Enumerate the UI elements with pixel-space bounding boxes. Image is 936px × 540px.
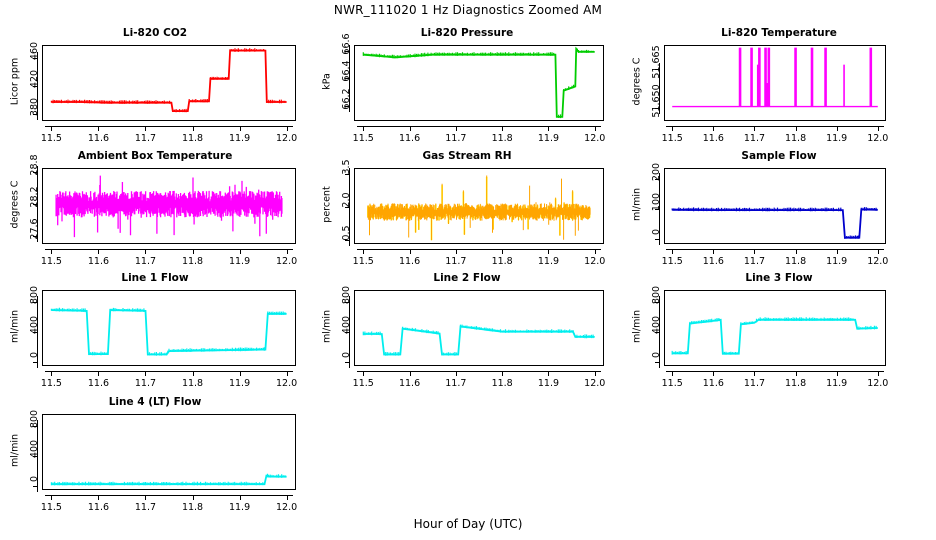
x-tick-label: 11.8 — [482, 256, 522, 267]
x-tick-label: 11.6 — [78, 133, 118, 144]
x-tick — [145, 249, 146, 254]
x-tick-label: 11.7 — [436, 133, 476, 144]
y-axis-label: degrees C — [632, 52, 643, 112]
y-axis-label: ml/min — [632, 297, 643, 357]
x-tick — [713, 249, 714, 254]
x-tick-label: 11.8 — [173, 502, 213, 513]
panel-title: Li-820 Temperature — [622, 27, 936, 39]
x-tick — [98, 249, 99, 254]
x-tick — [363, 126, 364, 131]
x-tick-label: 11.7 — [125, 502, 165, 513]
x-tick — [548, 371, 549, 376]
y-axis-label: ml/min — [10, 421, 21, 481]
panel-line-1-flow: Line 1 Flow0400800ml/min11.511.611.711.8… — [0, 272, 310, 400]
x-axis-line — [357, 371, 600, 372]
x-tick — [595, 249, 596, 254]
panel-title: Line 2 Flow — [312, 272, 622, 284]
x-tick — [363, 249, 364, 254]
x-tick — [878, 126, 879, 131]
x-tick-label: 12.0 — [858, 378, 898, 389]
x-tick-label: 12.0 — [267, 256, 307, 267]
x-tick-label: 11.8 — [173, 133, 213, 144]
x-tick-label: 12.0 — [267, 378, 307, 389]
x-tick — [672, 126, 673, 131]
x-tick — [796, 249, 797, 254]
x-tick-label: 11.6 — [693, 256, 733, 267]
x-tick — [410, 249, 411, 254]
panel-title: Line 3 Flow — [622, 272, 936, 284]
x-tick-label: 11.9 — [528, 256, 568, 267]
x-tick-label: 11.8 — [776, 378, 816, 389]
y-axis-label: ml/min — [632, 175, 643, 235]
x-tick — [878, 371, 879, 376]
x-tick — [595, 371, 596, 376]
x-tick — [287, 495, 288, 500]
data-trace — [42, 45, 296, 121]
data-trace — [664, 290, 886, 366]
x-tick-label: 11.7 — [436, 256, 476, 267]
data-trace — [354, 45, 604, 121]
panel-line-2-flow: Line 2 Flow0400800ml/min11.511.611.711.8… — [312, 272, 622, 400]
figure-canvas: NWR_111020 1 Hz Diagnostics Zoomed AM Li… — [0, 0, 936, 540]
x-tick-label: 11.9 — [817, 256, 857, 267]
x-tick — [193, 249, 194, 254]
x-tick-label: 11.6 — [390, 133, 430, 144]
data-trace — [354, 290, 604, 366]
panel-ambient-box-temperature: Ambient Box Temperature27.628.228.8degre… — [0, 150, 310, 278]
x-axis-line — [45, 249, 292, 250]
x-tick-label: 11.7 — [734, 378, 774, 389]
x-tick — [145, 495, 146, 500]
panel-title: Line 1 Flow — [0, 272, 310, 284]
x-tick — [240, 371, 241, 376]
x-tick-label: 11.5 — [343, 378, 383, 389]
x-tick — [363, 371, 364, 376]
x-tick-label: 11.9 — [817, 378, 857, 389]
panel-title: Sample Flow — [622, 150, 936, 162]
x-tick-label: 11.9 — [220, 256, 260, 267]
panel-li-820-co2: Li-820 CO2380420460Licor ppm11.511.611.7… — [0, 27, 310, 155]
x-tick-label: 12.0 — [575, 133, 615, 144]
data-trace — [42, 414, 296, 490]
x-tick-label: 12.0 — [267, 502, 307, 513]
x-tick — [287, 126, 288, 131]
x-tick — [287, 371, 288, 376]
panel-li-820-temperature: Li-820 Temperature51.65051.665degrees C1… — [622, 27, 936, 155]
panel-sample-flow: Sample Flow0100200ml/min11.511.611.711.8… — [622, 150, 936, 278]
figure-title: NWR_111020 1 Hz Diagnostics Zoomed AM — [0, 3, 936, 17]
x-tick — [193, 495, 194, 500]
x-tick-label: 11.8 — [173, 256, 213, 267]
x-tick — [672, 371, 673, 376]
y-axis-label: percent — [322, 175, 333, 235]
x-tick-label: 11.9 — [220, 133, 260, 144]
x-tick-label: 11.5 — [31, 378, 71, 389]
x-tick-label: 11.7 — [125, 378, 165, 389]
x-tick-label: 11.6 — [693, 133, 733, 144]
x-tick — [456, 371, 457, 376]
x-tick — [837, 371, 838, 376]
x-tick — [878, 249, 879, 254]
x-tick — [837, 126, 838, 131]
x-tick — [754, 249, 755, 254]
x-axis-line — [45, 126, 292, 127]
x-tick — [456, 249, 457, 254]
x-tick — [51, 495, 52, 500]
x-tick-label: 11.7 — [734, 133, 774, 144]
x-tick — [98, 371, 99, 376]
panel-title: Gas Stream RH — [312, 150, 622, 162]
x-axis-line — [45, 371, 292, 372]
x-tick — [456, 126, 457, 131]
panel-line-3-flow: Line 3 Flow0400800ml/min11.511.611.711.8… — [622, 272, 936, 400]
x-tick — [754, 371, 755, 376]
x-tick — [837, 249, 838, 254]
x-tick — [410, 126, 411, 131]
data-trace — [354, 168, 604, 244]
x-tick — [754, 126, 755, 131]
x-tick — [51, 371, 52, 376]
x-tick-label: 11.6 — [390, 256, 430, 267]
x-tick-label: 12.0 — [575, 378, 615, 389]
panel-gas-stream-rh: Gas Stream RH0.52.03.5percent11.511.611.… — [312, 150, 622, 278]
x-tick — [145, 126, 146, 131]
data-trace — [664, 168, 886, 244]
x-tick-label: 11.5 — [31, 502, 71, 513]
panel-line-4-lt-flow: Line 4 (LT) Flow0400800ml/min11.511.611.… — [0, 396, 310, 524]
panel-title: Li-820 Pressure — [312, 27, 622, 39]
x-tick — [713, 371, 714, 376]
x-tick — [51, 249, 52, 254]
x-tick-label: 11.8 — [482, 378, 522, 389]
x-tick-label: 12.0 — [858, 256, 898, 267]
x-tick-label: 11.6 — [390, 378, 430, 389]
data-trace — [42, 290, 296, 366]
x-tick-label: 11.6 — [693, 378, 733, 389]
x-tick-label: 11.6 — [78, 502, 118, 513]
x-tick-label: 11.6 — [78, 378, 118, 389]
y-axis-label: ml/min — [322, 297, 333, 357]
x-tick — [51, 126, 52, 131]
x-tick — [713, 126, 714, 131]
y-axis-label: kPa — [322, 52, 333, 112]
x-tick-label: 11.9 — [220, 378, 260, 389]
x-tick — [410, 371, 411, 376]
x-tick-label: 11.5 — [652, 378, 692, 389]
x-axis-line — [666, 371, 884, 372]
x-tick-label: 11.7 — [436, 378, 476, 389]
x-tick-label: 11.6 — [78, 256, 118, 267]
x-tick — [240, 495, 241, 500]
x-tick-label: 11.8 — [173, 378, 213, 389]
panel-title: Line 4 (LT) Flow — [0, 396, 310, 408]
x-axis-line — [666, 126, 884, 127]
global-x-axis-label: Hour of Day (UTC) — [0, 517, 936, 531]
x-tick — [240, 126, 241, 131]
x-tick — [796, 126, 797, 131]
x-tick-label: 11.9 — [220, 502, 260, 513]
x-tick — [98, 126, 99, 131]
x-axis-line — [666, 249, 884, 250]
data-trace — [664, 45, 886, 121]
x-axis-line — [45, 495, 292, 496]
x-tick-label: 11.8 — [776, 133, 816, 144]
x-tick — [796, 371, 797, 376]
x-tick-label: 11.7 — [125, 133, 165, 144]
x-tick — [502, 126, 503, 131]
x-tick-label: 11.9 — [528, 378, 568, 389]
y-axis-label: Licor ppm — [10, 52, 21, 112]
x-tick-label: 12.0 — [267, 133, 307, 144]
x-tick-label: 11.9 — [817, 133, 857, 144]
x-tick — [502, 249, 503, 254]
y-axis-label: degrees C — [10, 175, 21, 235]
x-tick-label: 11.9 — [528, 133, 568, 144]
x-tick — [548, 126, 549, 131]
x-axis-line — [357, 249, 600, 250]
x-tick-label: 12.0 — [858, 133, 898, 144]
x-tick — [98, 495, 99, 500]
x-tick-label: 12.0 — [575, 256, 615, 267]
y-axis-label: ml/min — [10, 297, 21, 357]
x-tick-label: 11.8 — [776, 256, 816, 267]
x-tick — [240, 249, 241, 254]
x-tick — [193, 371, 194, 376]
x-tick — [193, 126, 194, 131]
x-tick — [145, 371, 146, 376]
panel-title: Ambient Box Temperature — [0, 150, 310, 162]
x-tick — [548, 249, 549, 254]
x-axis-line — [357, 126, 600, 127]
x-tick-label: 11.7 — [125, 256, 165, 267]
x-tick — [502, 371, 503, 376]
data-trace — [42, 168, 296, 244]
x-tick — [287, 249, 288, 254]
x-tick-label: 11.7 — [734, 256, 774, 267]
x-tick — [672, 249, 673, 254]
panel-title: Li-820 CO2 — [0, 27, 310, 39]
panel-li-820-pressure: Li-820 Pressure66.266.466.6kPa11.511.611… — [312, 27, 622, 155]
x-tick-label: 11.8 — [482, 133, 522, 144]
x-tick — [595, 126, 596, 131]
